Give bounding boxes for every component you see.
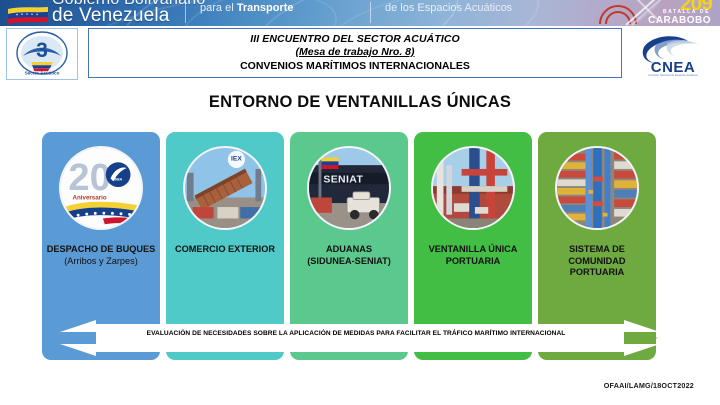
cnea-logo-icon: CNEA Comisión Nacional de Espacios Acuát…: [636, 31, 710, 77]
inea-20-aniversario-logo-icon: 20 INEA Aniversario: [59, 146, 143, 230]
svg-text:SENIAT: SENIAT: [323, 174, 363, 185]
cargo-container-crane-photo-icon: IEX: [183, 146, 267, 230]
card-title: VENTANILLA ÚNICA PORTUARIA: [429, 244, 518, 266]
card-caption: COMERCIO EXTERIOR: [170, 244, 280, 256]
banner-divider: [185, 2, 186, 23]
government-banner: Gobierno Bolivariano de Venezuela para e…: [0, 0, 720, 26]
card-subtitle: (Arribos y Zarpes): [64, 256, 138, 266]
sector-acuatico-3-logo-icon: 3 Sector Acuático: [11, 31, 73, 77]
seniat-building-photo-icon: SENIAT: [307, 146, 391, 230]
process-cards-row: 20 INEA Aniversario: [42, 132, 656, 360]
footer-reference: OFAAI/LAMG/18OCT2022: [604, 381, 694, 390]
title-line-3: CONVENIOS MARÍTIMOS INTERNACIONALES: [240, 59, 470, 73]
ministry-transport-label: para el Transporte: [200, 2, 294, 14]
card-title: DESPACHO DE BUQUES: [47, 244, 156, 254]
card-caption: SISTEMA DE COMUNIDAD PORTUARIA: [542, 244, 652, 279]
card-caption: DESPACHO DE BUQUES (Arribos y Zarpes): [46, 244, 156, 267]
svg-text:Aniversario: Aniversario: [73, 194, 107, 201]
carabobo-name: CARABOBO: [648, 15, 711, 26]
card-caption: ADUANAS (SIDUNEA-SENIAT): [294, 244, 404, 267]
government-wordmark: Gobierno Bolivariano de Venezuela: [52, 0, 205, 26]
ministry-prefix: para el: [200, 2, 234, 14]
card-title: COMERCIO EXTERIOR: [175, 244, 275, 254]
card-subtitle: (SIDUNEA-SENIAT): [307, 256, 391, 266]
cnea-logo: CNEA Comisión Nacional de Espacios Acuát…: [632, 28, 714, 80]
page-title: ENTORNO DE VENTANILLAS ÚNICAS: [0, 93, 720, 112]
sector-acuatico-logo: 3 Sector Acuático: [6, 28, 78, 80]
venezuela-flag-icon: [8, 6, 48, 24]
svg-text:INEA: INEA: [114, 177, 123, 181]
card-ventanilla-unica-portuaria[interactable]: VENTANILLA ÚNICA PORTUARIA: [414, 132, 532, 360]
card-aduanas[interactable]: SENIAT ADUANAS: [290, 132, 408, 360]
container-yard-aerial-photo-icon: [555, 146, 639, 230]
title-line-1: III ENCUENTRO DEL SECTOR ACUÁTICO: [250, 33, 460, 46]
espacios-acuaticos-label: de los Espacios Acuáticos: [385, 2, 512, 14]
banner-divider: [370, 2, 371, 23]
svg-text:3: 3: [36, 39, 48, 62]
port-gantry-crane-photo-icon: [431, 146, 515, 230]
card-sistema-de-comunidad-portuaria[interactable]: SISTEMA DE COMUNIDAD PORTUARIA: [538, 132, 656, 360]
card-title: ADUANAS: [326, 244, 372, 254]
card-despacho-de-buques[interactable]: 20 INEA Aniversario: [42, 132, 160, 360]
svg-text:Comisión Nacional de Espacios: Comisión Nacional de Espacios Acuáticos: [648, 73, 699, 77]
gov-line1: Gobierno Bolivariano: [52, 0, 205, 5]
band-description-text: EVALUACIÓN DE NECESIDADES SOBRE LA APLIC…: [92, 330, 620, 337]
presentation-title-box: III ENCUENTRO DEL SECTOR ACUÁTICO (Mesa …: [88, 28, 622, 78]
ministry-bold: Transporte: [237, 2, 294, 14]
svg-text:IEX: IEX: [231, 155, 242, 162]
title-line-2: (Mesa de trabajo Nro. 8): [295, 46, 414, 59]
gov-line2: de Venezuela: [52, 5, 205, 26]
slide-canvas: Gobierno Bolivariano de Venezuela para e…: [0, 0, 720, 405]
svg-text:Sector Acuático: Sector Acuático: [25, 71, 60, 76]
card-comercio-exterior[interactable]: IEX COMERCIO EXTERIOR: [166, 132, 284, 360]
svg-text:20: 20: [68, 157, 110, 199]
carabobo-bicentennial-logo: 209 BATALLA DE CARABOBO: [596, 0, 716, 26]
card-caption: VENTANILLA ÚNICA PORTUARIA: [418, 244, 528, 267]
card-title: SISTEMA DE COMUNIDAD PORTUARIA: [568, 244, 625, 277]
